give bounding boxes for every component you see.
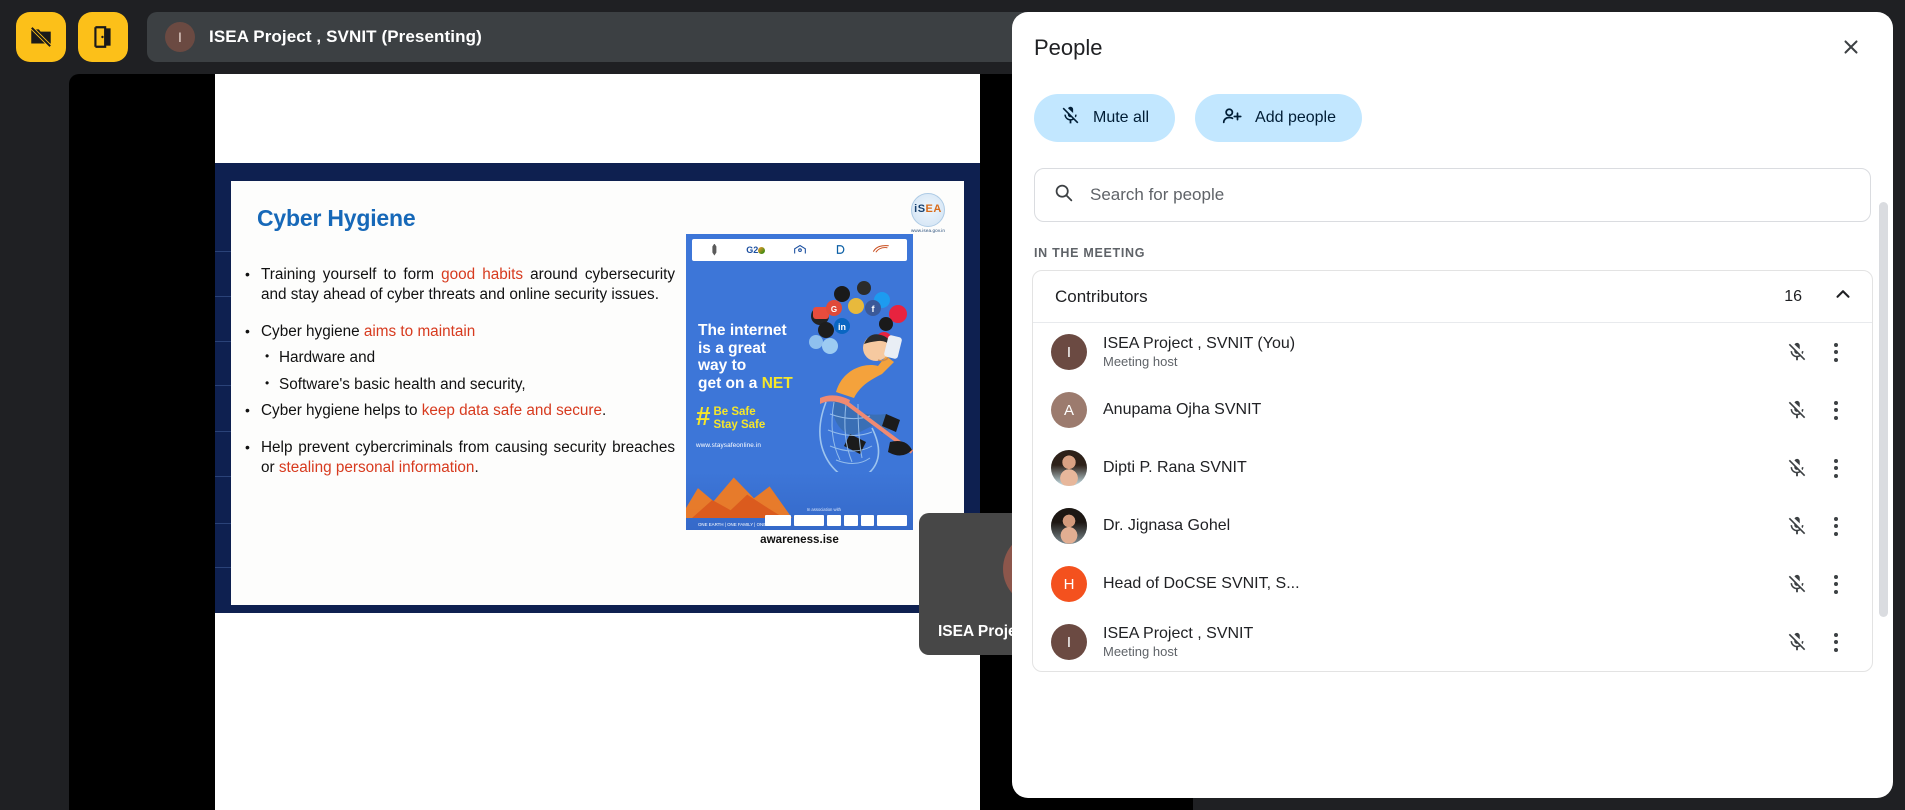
svg-text:G: G	[831, 305, 837, 314]
slide-content: Cyber Hygiene iSEA www.isea.gov.in •Trai…	[231, 181, 964, 605]
slide-frame: Cyber Hygiene iSEA www.isea.gov.in •Trai…	[215, 163, 980, 613]
more-vert-icon	[1834, 575, 1838, 594]
people-panel: People Mute all	[1012, 12, 1893, 798]
participant-name: Head of DoCSE SVNIT, S...	[1103, 574, 1780, 594]
list-item[interactable]: AAnupama Ojha SVNIT	[1033, 381, 1872, 439]
participant-name: Dipti P. Rana SVNIT	[1103, 458, 1780, 478]
poster-caption: awareness.ise	[686, 533, 913, 546]
participant-role: Meeting host	[1103, 354, 1780, 371]
page-title: People	[1034, 35, 1829, 61]
mute-all-button[interactable]: Mute all	[1034, 94, 1175, 142]
poster-hashtag-block: # Be Safe Stay Safe	[696, 406, 765, 432]
meeting-window: I ISEA Project , SVNIT (Presenting) Cybe…	[0, 0, 1905, 810]
poster-headline-net: NET	[762, 375, 793, 392]
poster-illustration-icon: in G f	[790, 274, 913, 484]
poster-headline-line4: get on a	[698, 375, 762, 392]
chevron-up-icon[interactable]	[1832, 283, 1854, 310]
slide-bullet-text: Software's basic health and security,	[279, 375, 675, 395]
bullet-dot-icon: •	[245, 265, 261, 306]
mic-off-icon[interactable]	[1780, 515, 1814, 537]
more-options-button[interactable]	[1814, 446, 1858, 490]
slide-title: Cyber Hygiene	[257, 205, 415, 232]
add-people-button[interactable]: Add people	[1195, 94, 1362, 142]
search-icon	[1053, 182, 1074, 208]
more-options-button[interactable]	[1814, 562, 1858, 606]
list-item[interactable]: IISEA Project , SVNITMeeting host	[1033, 613, 1872, 671]
participant-names: ISEA Project , SVNIT (You)Meeting host	[1103, 334, 1780, 371]
people-list: IISEA Project , SVNIT (You)Meeting hostA…	[1033, 323, 1872, 671]
more-options-button[interactable]	[1814, 504, 1858, 548]
isea-mark-last: A	[933, 203, 941, 215]
slide-bullet: •Software's basic health and security,	[265, 375, 675, 395]
participant-names: Dipti P. Rana SVNIT	[1103, 458, 1780, 478]
avatar: I	[1051, 334, 1087, 370]
list-item[interactable]: IISEA Project , SVNIT (You)Meeting host	[1033, 323, 1872, 381]
panel-scrollbar[interactable]	[1879, 202, 1888, 617]
mic-off-icon[interactable]	[1780, 341, 1814, 363]
list-item[interactable]: Dipti P. Rana SVNIT	[1033, 439, 1872, 497]
svg-text:in: in	[838, 322, 846, 332]
participant-role: Meeting host	[1103, 644, 1780, 661]
avatar	[1051, 450, 1087, 486]
group-header[interactable]: Contributors 16	[1033, 271, 1872, 323]
chip-avatar: I	[165, 22, 195, 52]
participant-name: ISEA Project , SVNIT	[1103, 624, 1780, 644]
bullet-dot-icon: •	[265, 348, 279, 368]
mute-all-label: Mute all	[1093, 109, 1149, 127]
slide-bullets: •Training yourself to form good habits a…	[245, 265, 675, 495]
add-people-label: Add people	[1255, 109, 1336, 127]
stop-presenting-button[interactable]	[16, 12, 66, 62]
list-item[interactable]: HHead of DoCSE SVNIT, S...	[1033, 555, 1872, 613]
group-count: 16	[1784, 288, 1802, 306]
bullet-dot-icon: •	[245, 401, 261, 421]
poster-footer: ONE EARTH | ONE FAMILY | ONE FUTURE In a…	[686, 472, 913, 530]
group-name: Contributors	[1055, 287, 1784, 307]
slide-bullet: •Training yourself to form good habits a…	[245, 265, 675, 306]
participant-name: ISEA Project , SVNIT (You)	[1103, 334, 1780, 354]
poster-url: www.staysafeonline.in	[696, 442, 761, 449]
poster-tag-line2: Stay Safe	[713, 419, 765, 432]
poster-tag-line1: Be Safe	[713, 406, 765, 419]
more-options-button[interactable]	[1814, 388, 1858, 432]
presenting-label: ISEA Project , SVNIT (Presenting)	[209, 27, 482, 47]
poster-footer-credit: In association with	[807, 507, 841, 512]
section-label: IN THE MEETING	[1034, 246, 1893, 260]
mic-off-icon	[1060, 105, 1081, 131]
more-vert-icon	[1834, 517, 1838, 536]
participant-names: Anupama Ojha SVNIT	[1103, 400, 1780, 420]
slide-bullet-text: Training yourself to form good habits ar…	[261, 265, 675, 306]
panel-actions: Mute all Add people	[1012, 84, 1893, 142]
shared-screen: Cyber Hygiene iSEA www.isea.gov.in •Trai…	[215, 74, 980, 810]
participant-names: Dr. Jignasa Gohel	[1103, 516, 1780, 536]
list-item[interactable]: Dr. Jignasa Gohel	[1033, 497, 1872, 555]
more-vert-icon	[1834, 343, 1838, 362]
bullet-dot-icon: •	[245, 438, 261, 479]
leave-call-icon	[90, 24, 116, 50]
isea-mark-prefix: iS	[914, 203, 925, 215]
leave-call-button[interactable]	[78, 12, 128, 62]
close-icon	[1840, 36, 1862, 61]
slide-bullet: •Cyber hygiene helps to keep data safe a…	[245, 401, 675, 421]
slide-bullet: •Hardware and	[265, 348, 675, 368]
slide-bullet: •Cyber hygiene aims to maintain	[245, 322, 675, 342]
participant-names: Head of DoCSE SVNIT, S...	[1103, 574, 1780, 594]
isea-logo-url: www.isea.gov.in	[911, 228, 945, 233]
isea-logo-icon: iSEA www.isea.gov.in	[906, 191, 950, 235]
slide-bullet-text: Help prevent cybercriminals from causing…	[261, 438, 675, 479]
panel-header: People	[1012, 12, 1893, 84]
close-panel-button[interactable]	[1829, 26, 1873, 70]
more-options-button[interactable]	[1814, 330, 1858, 374]
mic-off-icon[interactable]	[1780, 631, 1814, 653]
slide-bullet-text: Cyber hygiene aims to maintain	[261, 322, 675, 342]
avatar: A	[1051, 392, 1087, 428]
mic-off-icon[interactable]	[1780, 573, 1814, 595]
slide-bullet-text: Cyber hygiene helps to keep data safe an…	[261, 401, 675, 421]
more-options-button[interactable]	[1814, 620, 1858, 664]
more-vert-icon	[1834, 633, 1838, 652]
stop-presenting-icon	[28, 24, 54, 50]
bullet-dot-icon: •	[265, 375, 279, 395]
participant-name: Anupama Ojha SVNIT	[1103, 400, 1780, 420]
more-vert-icon	[1834, 459, 1838, 478]
mic-off-icon[interactable]	[1780, 399, 1814, 421]
search-input[interactable]	[1090, 185, 1852, 205]
poster-logo-strip: G2	[692, 239, 907, 261]
person-add-icon	[1221, 105, 1243, 132]
avatar: H	[1051, 566, 1087, 602]
participant-name: Dr. Jignasa Gohel	[1103, 516, 1780, 536]
awareness-poster: G2	[686, 234, 913, 530]
search-box[interactable]	[1034, 168, 1871, 222]
avatar	[1051, 508, 1087, 544]
slide-bullet: •Help prevent cybercriminals from causin…	[245, 438, 675, 479]
participant-names: ISEA Project , SVNITMeeting host	[1103, 624, 1780, 661]
hash-icon: #	[696, 406, 710, 427]
slide-bullet-text: Hardware and	[279, 348, 675, 368]
contributors-group: Contributors 16 IISEA Project , SVNIT (Y…	[1032, 270, 1873, 672]
more-vert-icon	[1834, 401, 1838, 420]
mic-off-icon[interactable]	[1780, 457, 1814, 479]
bullet-dot-icon: •	[245, 322, 261, 342]
avatar: I	[1051, 624, 1087, 660]
